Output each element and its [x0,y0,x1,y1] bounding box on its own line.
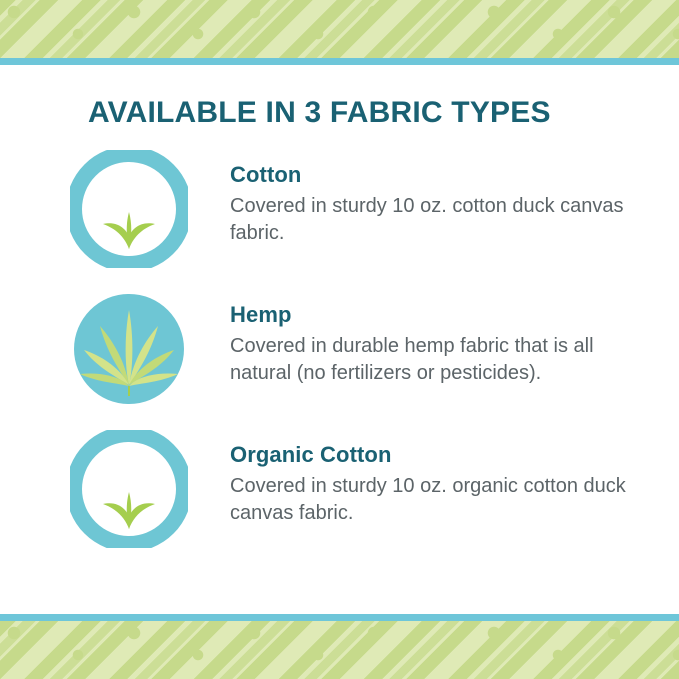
page-title: AVAILABLE IN 3 FABRIC TYPES [88,96,551,130]
bottom-band-pattern [0,621,679,679]
top-band-pattern [0,0,679,58]
fabric-item-cotton: Cotton Covered in sturdy 10 oz. cotton d… [0,150,679,268]
fabric-title-organic-cotton: Organic Cotton [230,442,679,467]
fabric-description-hemp: Covered in durable hemp fabric that is a… [230,333,630,386]
fabric-item-hemp: Hemp Covered in durable hemp fabric that… [0,290,679,408]
fabric-item-organic-cotton: Organic Cotton Covered in sturdy 10 oz. … [0,430,679,548]
fabric-title-hemp: Hemp [230,302,679,327]
hemp-leaf-icon [70,290,188,408]
fabric-description-organic-cotton: Covered in sturdy 10 oz. organic cotton … [230,473,630,526]
fabric-item-text: Organic Cotton Covered in sturdy 10 oz. … [230,430,679,526]
bottom-band-teal-rule [0,614,679,621]
dot-accent-layer [0,0,679,58]
fabric-title-cotton: Cotton [230,162,679,187]
infographic-page: AVAILABLE IN 3 FABRIC TYPES Cotton Cover… [0,0,679,679]
top-decorative-band [0,0,679,65]
bottom-decorative-band [0,614,679,679]
fabric-description-cotton: Covered in sturdy 10 oz. cotton duck can… [230,193,630,246]
cotton-boll-icon [70,430,188,548]
fabric-item-text: Hemp Covered in durable hemp fabric that… [230,290,679,386]
top-band-teal-rule [0,58,679,65]
dot-accent-layer [0,621,679,679]
cotton-boll-icon [70,150,188,268]
fabric-item-text: Cotton Covered in sturdy 10 oz. cotton d… [230,150,679,246]
fabric-type-list: Cotton Covered in sturdy 10 oz. cotton d… [0,150,679,570]
main-content: AVAILABLE IN 3 FABRIC TYPES Cotton Cover… [0,65,679,614]
